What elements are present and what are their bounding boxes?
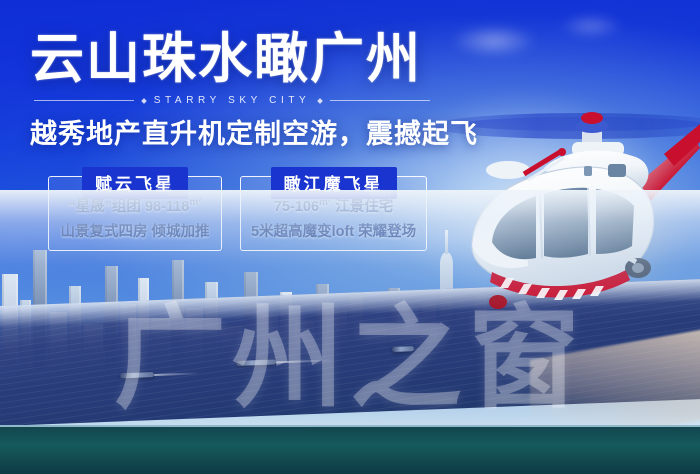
info-box-left: 赋云飞星 “星晟”组团 98-118m² 建筑面积 山景复式四房 倾城加推: [48, 176, 222, 251]
info-box-right-line1-suffix: 江景住宅: [331, 199, 393, 215]
info-box-right-line2: 5米超高魔变loft 荣耀登场: [251, 220, 416, 241]
page-title: 云山珠水瞰广州: [30, 30, 470, 86]
tagline-rule: STARRY SKY CITY: [34, 95, 430, 106]
info-box-right: 瞰江魔飞星 75-106m² 江景住宅 建筑面积 5米超高魔变loft 荣耀登场: [240, 176, 427, 251]
info-box-right-line1: 75-106m² 江景住宅 建筑面积: [251, 195, 416, 216]
info-box-left-unit: m²: [189, 197, 201, 208]
info-box-left-line2: 山景复式四房 倾城加推: [59, 220, 211, 241]
bottom-bar: [0, 425, 700, 474]
poster-canvas: 广州之窗: [0, 0, 700, 474]
rule-dot-left: [141, 98, 147, 104]
ship-icon: [392, 346, 414, 352]
english-tagline: STARRY SKY CITY: [154, 95, 311, 106]
rule-line-left: [34, 100, 134, 101]
info-box-left-superscript: 建筑面积: [168, 189, 190, 196]
info-box-left-line1-text: “星晟”组团 98-118: [68, 199, 189, 215]
rule-line-right: [330, 100, 430, 101]
info-box-left-line1: “星晟”组团 98-118m² 建筑面积: [59, 195, 211, 216]
info-box-group: 赋云飞星 “星晟”组团 98-118m² 建筑面积 山景复式四房 倾城加推 瞰江…: [48, 176, 427, 251]
headline-block: 云山珠水瞰广州 STARRY SKY CITY 越秀地产直升机定制空游，震撼起飞: [30, 30, 470, 151]
info-box-right-line1-text: 75-106: [274, 199, 319, 215]
info-box-right-superscript: 建筑面积: [370, 189, 392, 196]
rule-dot-right: [317, 98, 323, 104]
page-subtitle: 越秀地产直升机定制空游，震撼起飞: [30, 112, 470, 151]
info-box-right-unit: m²: [319, 197, 331, 208]
